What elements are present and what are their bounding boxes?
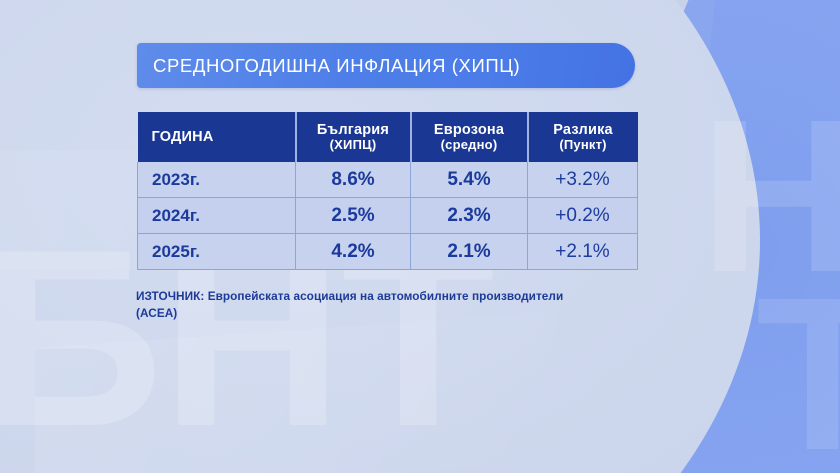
cell-bulgaria: 8.6% — [296, 162, 411, 198]
inflation-table: ГОДИНА България (ХИПЦ) Еврозона (средно)… — [137, 112, 638, 270]
inflation-table-container: ГОДИНА България (ХИПЦ) Еврозона (средно)… — [137, 112, 617, 270]
table-row: 2023г. 8.6% 5.4% +3.2% — [138, 162, 638, 198]
column-header-bulgaria: България (ХИПЦ) — [296, 112, 411, 162]
cell-difference: +0.2% — [528, 198, 638, 234]
table-body: 2023г. 8.6% 5.4% +3.2% 2024г. 2.5% 2.3% … — [138, 162, 638, 270]
column-header-difference-label: Разлика — [553, 122, 613, 138]
source-note-line-2: (АСЕА) — [136, 305, 696, 322]
table-header-row: ГОДИНА България (ХИПЦ) Еврозона (средно)… — [138, 112, 638, 162]
column-header-bulgaria-sublabel: (ХИПЦ) — [297, 137, 410, 152]
cell-year: 2025г. — [138, 234, 296, 270]
column-header-eurozone: Еврозона (средно) — [411, 112, 528, 162]
cell-difference: +2.1% — [528, 234, 638, 270]
cell-difference: +3.2% — [528, 162, 638, 198]
broadcast-graphic-slide: БНТ НТ Т СРЕДНОГОДИШНА ИНФЛАЦИЯ (ХИПЦ) Г… — [0, 0, 840, 473]
cell-bulgaria: 4.2% — [296, 234, 411, 270]
column-header-year: ГОДИНА — [138, 112, 296, 162]
column-header-difference-sublabel: (Пункт) — [529, 137, 638, 152]
table-row: 2024г. 2.5% 2.3% +0.2% — [138, 198, 638, 234]
source-note: ИЗТОЧНИК: Европейската асоциация на авто… — [136, 288, 696, 322]
watermark-right-lower: Т — [756, 288, 840, 462]
column-header-bulgaria-label: България — [317, 122, 389, 138]
column-header-difference: Разлика (Пункт) — [528, 112, 638, 162]
cell-eurozone: 5.4% — [411, 162, 528, 198]
column-header-eurozone-sublabel: (средно) — [412, 137, 527, 152]
cell-eurozone: 2.3% — [411, 198, 528, 234]
cell-bulgaria: 2.5% — [296, 198, 411, 234]
slide-title-banner: СРЕДНОГОДИШНА ИНФЛАЦИЯ (ХИПЦ) — [137, 43, 635, 88]
cell-eurozone: 2.1% — [411, 234, 528, 270]
column-header-eurozone-label: Еврозона — [434, 122, 504, 138]
table-header: ГОДИНА България (ХИПЦ) Еврозона (средно)… — [138, 112, 638, 162]
source-note-line-1: ИЗТОЧНИК: Европейската асоциация на авто… — [136, 288, 696, 305]
table-row: 2025г. 4.2% 2.1% +2.1% — [138, 234, 638, 270]
page-title: СРЕДНОГОДИШНА ИНФЛАЦИЯ (ХИПЦ) — [137, 55, 520, 77]
column-header-year-label: ГОДИНА — [152, 129, 214, 145]
cell-year: 2024г. — [138, 198, 296, 234]
cell-year: 2023г. — [138, 162, 296, 198]
